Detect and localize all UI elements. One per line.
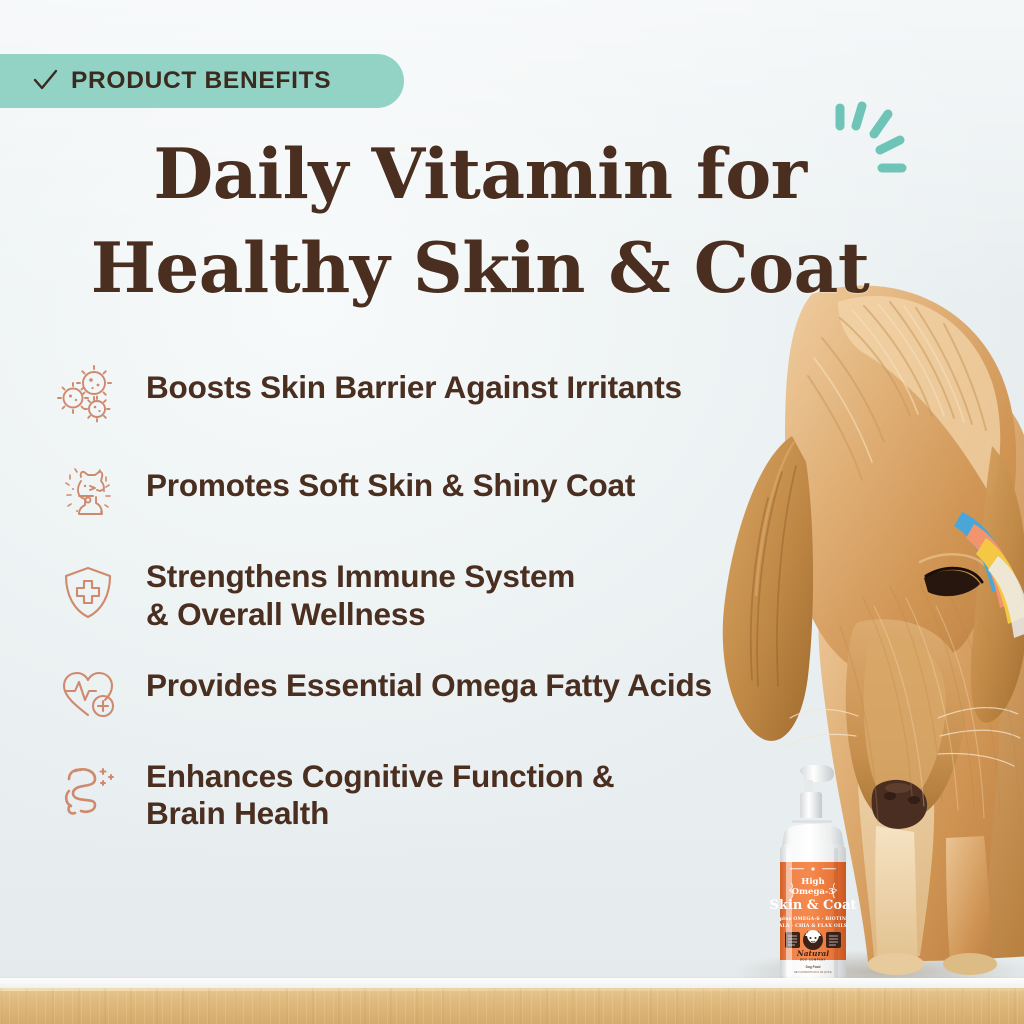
product-benefits-graphic: High Omega-3 Skin & Coat plus OMEGA-6 · … [0, 0, 1024, 1024]
benefit-item: Promotes Soft Skin & Shiny Coat [52, 458, 832, 532]
baseboard [0, 978, 1024, 988]
benefit-item: Strengthens Immune System & Overall Well… [52, 556, 832, 634]
intestines-icon [52, 756, 124, 828]
bottle-brand-sub: DOG COMPANY [800, 958, 826, 962]
benefit-item: Provides Essential Omega Fatty Acids [52, 658, 832, 732]
benefit-text: Promotes Soft Skin & Shiny Coat [146, 458, 635, 505]
benefits-list: Boosts Skin Barrier Against Irritants [52, 360, 832, 857]
bottle-brand: Natural [796, 949, 829, 958]
benefit-text: Enhances Cognitive Function & Brain Heal… [146, 756, 614, 834]
floor-grain [0, 988, 1024, 1024]
bottle-net-1: Dog Food [806, 965, 821, 969]
bottle-net-2: NET CONTENTS 16 FL OZ (473ml) [794, 971, 832, 974]
benefit-item: Enhances Cognitive Function & Brain Heal… [52, 756, 832, 834]
benefit-item: Boosts Skin Barrier Against Irritants [52, 360, 832, 434]
benefit-text: Boosts Skin Barrier Against Irritants [146, 360, 682, 407]
wooden-floor [0, 988, 1024, 1024]
bottle-title-top: High [801, 877, 824, 887]
shiny-dog-icon [52, 458, 124, 530]
benefit-text: Provides Essential Omega Fatty Acids [146, 658, 712, 705]
product-benefits-badge: PRODUCT BENEFITS [0, 54, 404, 108]
check-icon [32, 68, 58, 94]
bottle-title-main: Skin & Coat [769, 898, 856, 913]
heart-pulse-icon [52, 658, 124, 730]
bottle-title-top2: Omega-3 [792, 887, 835, 897]
headline-line-2: Healthy Skin & Coat [0, 222, 960, 316]
page-title: Daily Vitamin for Healthy Skin & Coat [0, 128, 960, 316]
shield-cross-icon [52, 556, 124, 628]
germ-icon [52, 360, 124, 432]
benefit-text: Strengthens Immune System & Overall Well… [146, 556, 575, 634]
headline-line-1: Daily Vitamin for [0, 128, 960, 222]
badge-label: PRODUCT BENEFITS [71, 67, 331, 95]
